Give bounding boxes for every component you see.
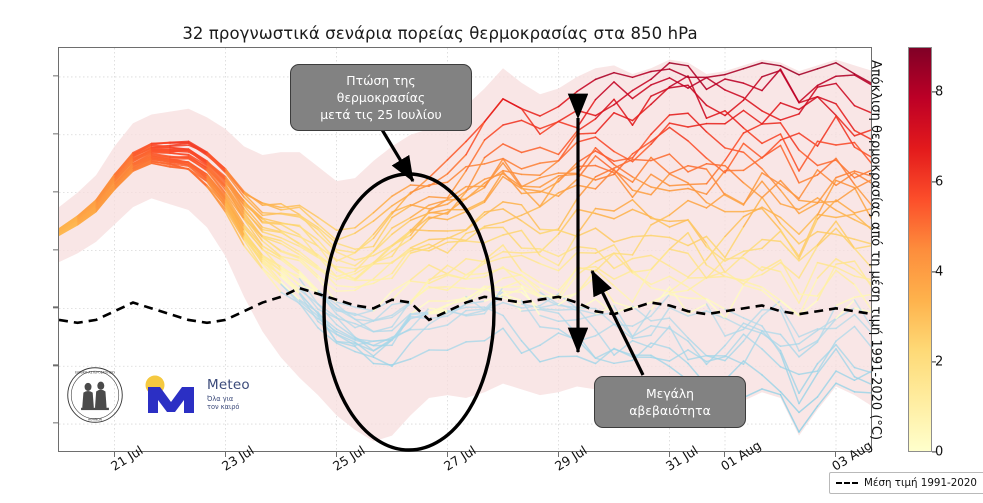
svg-text:ΕΘΝΙΚΟ ΑΣΤΕΡΟΣΚΟΠΕΙΟ: ΕΘΝΙΚΟ ΑΣΤΕΡΟΣΚΟΠΕΙΟ — [75, 371, 115, 375]
ensemble-member-line — [522, 248, 541, 249]
meteo-m-mark-icon — [140, 373, 202, 417]
annotation-callout-high-uncertainty: Μεγάλη αβεβαιότητα — [594, 376, 746, 428]
ensemble-member-line — [374, 263, 393, 264]
national-observatory-seal-icon: ΕΘΝΙΚΟ ΑΣΤΕΡΟΣΚΟΠΕΙΟ ΑΘΗΝΩΝ — [66, 366, 124, 424]
colorbar-tick-label: 2 — [935, 355, 943, 370]
annotation-text-line2: μετά τις 25 Ιουλίου — [303, 106, 459, 123]
meteo-name: Meteo — [207, 379, 250, 393]
ensemble-member-line — [522, 174, 541, 175]
ensemble-member-line — [577, 133, 596, 134]
colorbar-tick-label: 8 — [935, 85, 943, 100]
colorbar-tick-label: 6 — [935, 175, 943, 190]
ensemble-member-line — [448, 199, 467, 200]
ensemble-member-line — [152, 146, 171, 147]
colorbar-tick-label: 0 — [935, 445, 943, 460]
meteo-logo: Meteo Όλα για τον καιρό — [140, 373, 250, 417]
annotation-text-line1: Πτώση της θερμοκρασίας — [303, 72, 459, 106]
colorbar-tick-mark — [932, 181, 936, 182]
meteo-tagline-line2: τον καιρό — [207, 403, 250, 411]
meteo-wordmark: Meteo Όλα για τον καιρό — [207, 379, 250, 411]
ensemble-member-line — [485, 227, 504, 228]
ensemble-member-line — [337, 290, 356, 291]
chart-screenshot: 32 προγνωστικά σενάρια πορείας θερμοκρασ… — [0, 0, 983, 503]
ensemble-member-line — [411, 329, 430, 330]
annotation-callout-temperature-drop: Πτώση της θερμοκρασίας μετά τις 25 Ιουλί… — [290, 64, 472, 131]
ensemble-member-line — [577, 166, 596, 167]
branding-logos: ΕΘΝΙΚΟ ΑΣΤΕΡΟΣΚΟΠΕΙΟ ΑΘΗΝΩΝ Meteo Όλα γι… — [66, 366, 250, 424]
colorbar-tick-mark — [932, 271, 936, 272]
meteo-tagline: Όλα για τον καιρό — [207, 395, 250, 411]
legend: Μέση τιμή 1991-2020 — [829, 472, 983, 494]
colorbar-label: Απόκλιση θερμοκρασίας από τη μέση τιμή 1… — [868, 40, 883, 460]
colorbar-gradient — [908, 47, 932, 452]
ensemble-member-line — [688, 184, 707, 185]
colorbar-tick-mark — [932, 451, 936, 452]
colorbar-tick-mark — [932, 361, 936, 362]
colorbar: 02468 — [908, 47, 932, 452]
legend-label: Μέση τιμή 1991-2020 — [864, 477, 977, 489]
legend-dashed-line-swatch — [836, 482, 858, 484]
meteo-tagline-line1: Όλα για — [207, 395, 250, 403]
annotation-text-line1: Μεγάλη αβεβαιότητα — [605, 385, 735, 419]
ensemble-member-line — [577, 253, 596, 254]
colorbar-tick-mark — [932, 91, 936, 92]
colorbar-tick-label: 4 — [935, 265, 943, 280]
ensemble-member-line — [818, 202, 837, 203]
page-title: 32 προγνωστικά σενάρια πορείας θερμοκρασ… — [0, 24, 880, 43]
ensemble-member-line — [522, 186, 541, 187]
svg-text:ΑΘΗΝΩΝ: ΑΘΗΝΩΝ — [88, 418, 103, 422]
